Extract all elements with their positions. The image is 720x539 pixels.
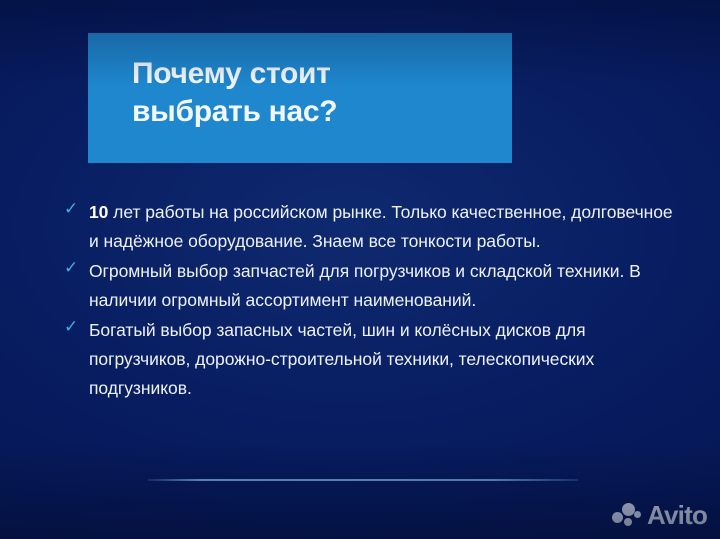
avito-wordmark: Avito [647,502,707,528]
heading-box: Почему стоит выбрать нас? [88,33,512,163]
list-item-body: Огромный выбор запчастей для погрузчиков… [89,261,641,310]
list-item-body: лет работы на российском рынке. Только к… [89,202,673,251]
list-item: ✓ 10 лет работы на российском рынке. Тол… [62,198,674,256]
list-item: ✓ Огромный выбор запчастей для погрузчик… [62,257,674,315]
avito-logo-icon [612,502,644,528]
slide-canvas: Почему стоит выбрать нас? ✓ 10 лет работ… [0,0,720,539]
list-item-text: 10 лет работы на российском рынке. Тольк… [89,202,673,251]
avito-watermark: Avito [612,499,707,531]
list-item-text: Огромный выбор запчастей для погрузчиков… [89,261,641,310]
list-item-lead: 10 [89,202,108,222]
check-icon: ✓ [64,259,82,277]
list-item-text: Богатый выбор запасных частей, шин и кол… [89,320,594,398]
benefits-list: ✓ 10 лет работы на российском рынке. Тол… [62,198,674,404]
check-icon: ✓ [64,318,82,336]
heading-line-1: Почему стоит [132,55,512,93]
check-icon: ✓ [64,200,82,218]
list-item-body: Богатый выбор запасных частей, шин и кол… [89,320,594,398]
heading-line-2: выбрать нас? [132,93,512,131]
divider [148,479,578,481]
list-item: ✓ Богатый выбор запасных частей, шин и к… [62,316,674,403]
